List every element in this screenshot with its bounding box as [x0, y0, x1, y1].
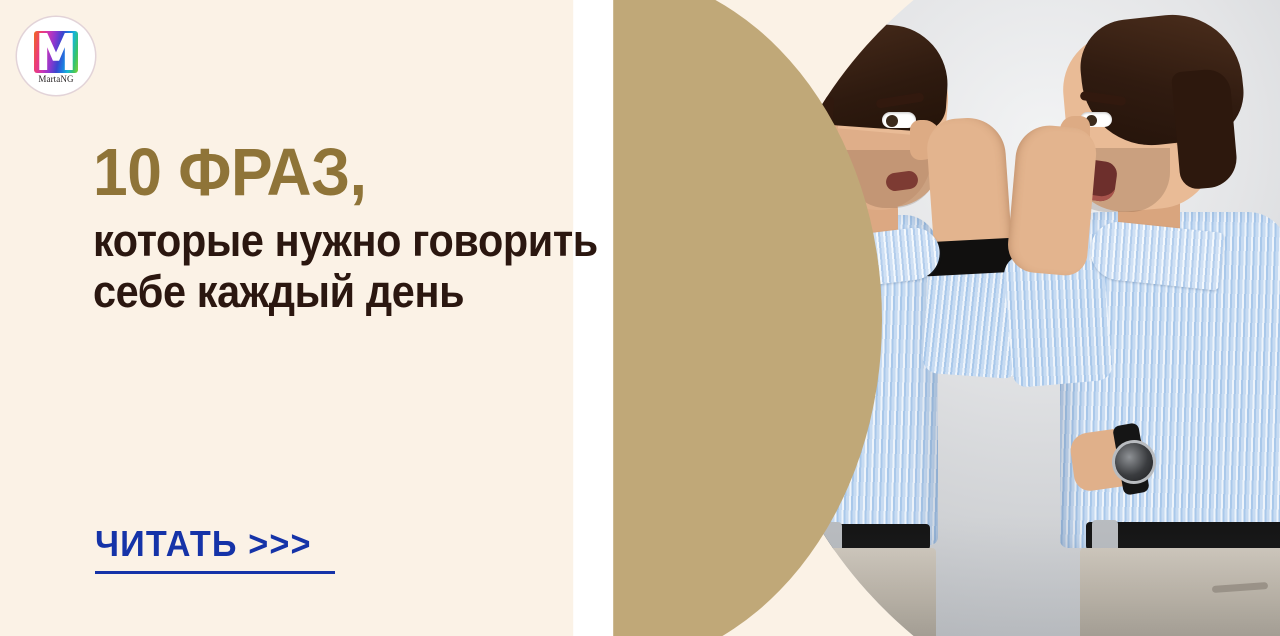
logo-badge[interactable]: MartaNG [17, 17, 95, 95]
read-more-underline [95, 571, 335, 574]
speaker-cupped-hand [1006, 123, 1099, 277]
headline-line-2: которые нужно говорить [93, 215, 645, 266]
logo-wordmark: MartaNG [38, 74, 73, 84]
headline-line-3: себе каждый день [93, 266, 645, 317]
page-title: 10 ФРАЗ, которые нужно говорить себе каж… [93, 138, 693, 317]
photo-floor-shadow [760, 516, 1280, 636]
speaker-hair-side [1171, 68, 1239, 191]
logo-m-icon [34, 31, 78, 73]
listener-pupil [886, 115, 898, 127]
headline-line-1: 10 ФРАЗ, [93, 138, 651, 208]
listener-pocket [806, 584, 862, 595]
read-more-label: ЧИТАТЬ >>> [95, 524, 323, 564]
read-more-link[interactable]: ЧИТАТЬ >>> [95, 524, 335, 574]
promo-banner: MartaNG 10 ФРАЗ, которые нужно говорить … [0, 0, 1280, 636]
